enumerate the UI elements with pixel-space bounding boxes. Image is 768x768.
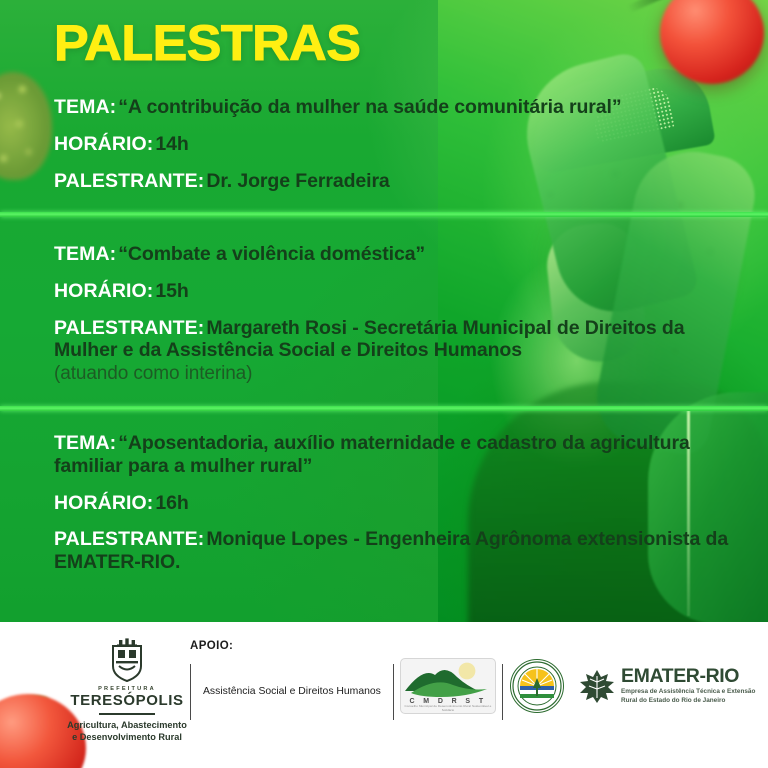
poster-green-stage: PALESTRAS TEMA:“A contribuição da mulher… [0,0,768,622]
sindicato-seal-icon [511,660,563,712]
page-title: PALESTRAS [54,18,360,68]
palestrante-label: PALESTRANTE: [54,528,204,550]
broccoli-icon-left [0,72,52,180]
sindicato-rural-seal-logo [510,659,564,713]
prefeitura-department-line1: Agricultura, Abastecimento [52,719,202,731]
palestrante-label: PALESTRANTE: [54,170,204,192]
emater-name: EMATER-RIO [621,667,755,687]
session-2-tema: TEMA:“Combate a violência doméstica” [54,243,734,266]
session-block-3: TEMA:“Aposentadoria, auxílio maternidade… [54,432,734,577]
session-3-palestrante: PALESTRANTE:Monique Lopes - Engenheira A… [54,528,734,574]
teresopolis-crest-icon [107,636,147,684]
emater-rio-logo: EMATER-RIO Empresa de Assistência Técnic… [578,667,755,706]
palestrante-value: Dr. Jorge Ferradeira [206,170,389,192]
session-block-2: TEMA:“Combate a violência doméstica” HOR… [54,243,734,388]
tema-value: “A contribuição da mulher na saúde comun… [118,96,621,118]
prefeitura-rule [99,713,155,715]
session-2-palestrante: PALESTRANTE:Margareth Rosi - Secretária … [54,317,734,386]
tema-value: “Combate a violência doméstica” [118,243,425,265]
palestrante-label: PALESTRANTE: [54,317,204,339]
horario-value: 14h [155,133,188,155]
poster: PALESTRAS TEMA:“A contribuição da mulher… [0,0,768,768]
horario-label: HORÁRIO: [54,280,153,302]
prefeitura-logo: PREFEITURA TERESÓPOLIS Agricultura, Abas… [52,636,202,743]
apoio-item-assistencia-social: Assistência Social e Direitos Humanos [190,664,393,720]
session-3-horario: HORÁRIO:16h [54,492,734,515]
emater-tagline-line1: Empresa de Assistência Técnica e Extensã… [621,688,755,697]
prefeitura-department-line2: e Desenvolvimento Rural [52,731,202,743]
session-1-palestrante: PALESTRANTE:Dr. Jorge Ferradeira [54,170,734,193]
session-1-tema: TEMA:“A contribuição da mulher na saúde … [54,96,734,119]
session-2-horario: HORÁRIO:15h [54,280,734,303]
emater-tagline-line2: Rural do Estado do Rio de Janeiro [621,697,755,706]
section-divider-1 [0,212,768,217]
tema-label: TEMA: [54,243,116,265]
cmdrst-caption: Conselho Municipal de Desenvolvimento Ru… [401,704,495,712]
session-1-horario: HORÁRIO:14h [54,133,734,156]
horario-label: HORÁRIO: [54,492,153,514]
footer: PREFEITURA TERESÓPOLIS Agricultura, Abas… [0,622,768,768]
session-block-1: TEMA:“A contribuição da mulher na saúde … [54,96,734,195]
partner-logos: C M D R S T Conselho Municipal de Desenv… [400,658,755,714]
horario-value: 15h [155,280,188,302]
tema-label: TEMA: [54,432,116,454]
cmdrst-logo: C M D R S T Conselho Municipal de Desenv… [400,658,496,714]
horario-label: HORÁRIO: [54,133,153,155]
cmdrst-mountains-icon [401,659,495,699]
tema-value: “Aposentadoria, auxílio maternidade e ca… [54,432,690,477]
horario-value: 16h [155,492,188,514]
prefeitura-city: TERESÓPOLIS [52,692,202,709]
emater-leaf-icon [578,668,616,704]
emater-text: EMATER-RIO Empresa de Assistência Técnic… [621,667,755,706]
session-3-tema: TEMA:“Aposentadoria, auxílio maternidade… [54,432,734,478]
tema-label: TEMA: [54,96,116,118]
apoio-label: APOIO: [190,640,551,652]
palestrante-note: (atuando como interina) [54,363,734,385]
section-divider-2 [0,406,768,411]
